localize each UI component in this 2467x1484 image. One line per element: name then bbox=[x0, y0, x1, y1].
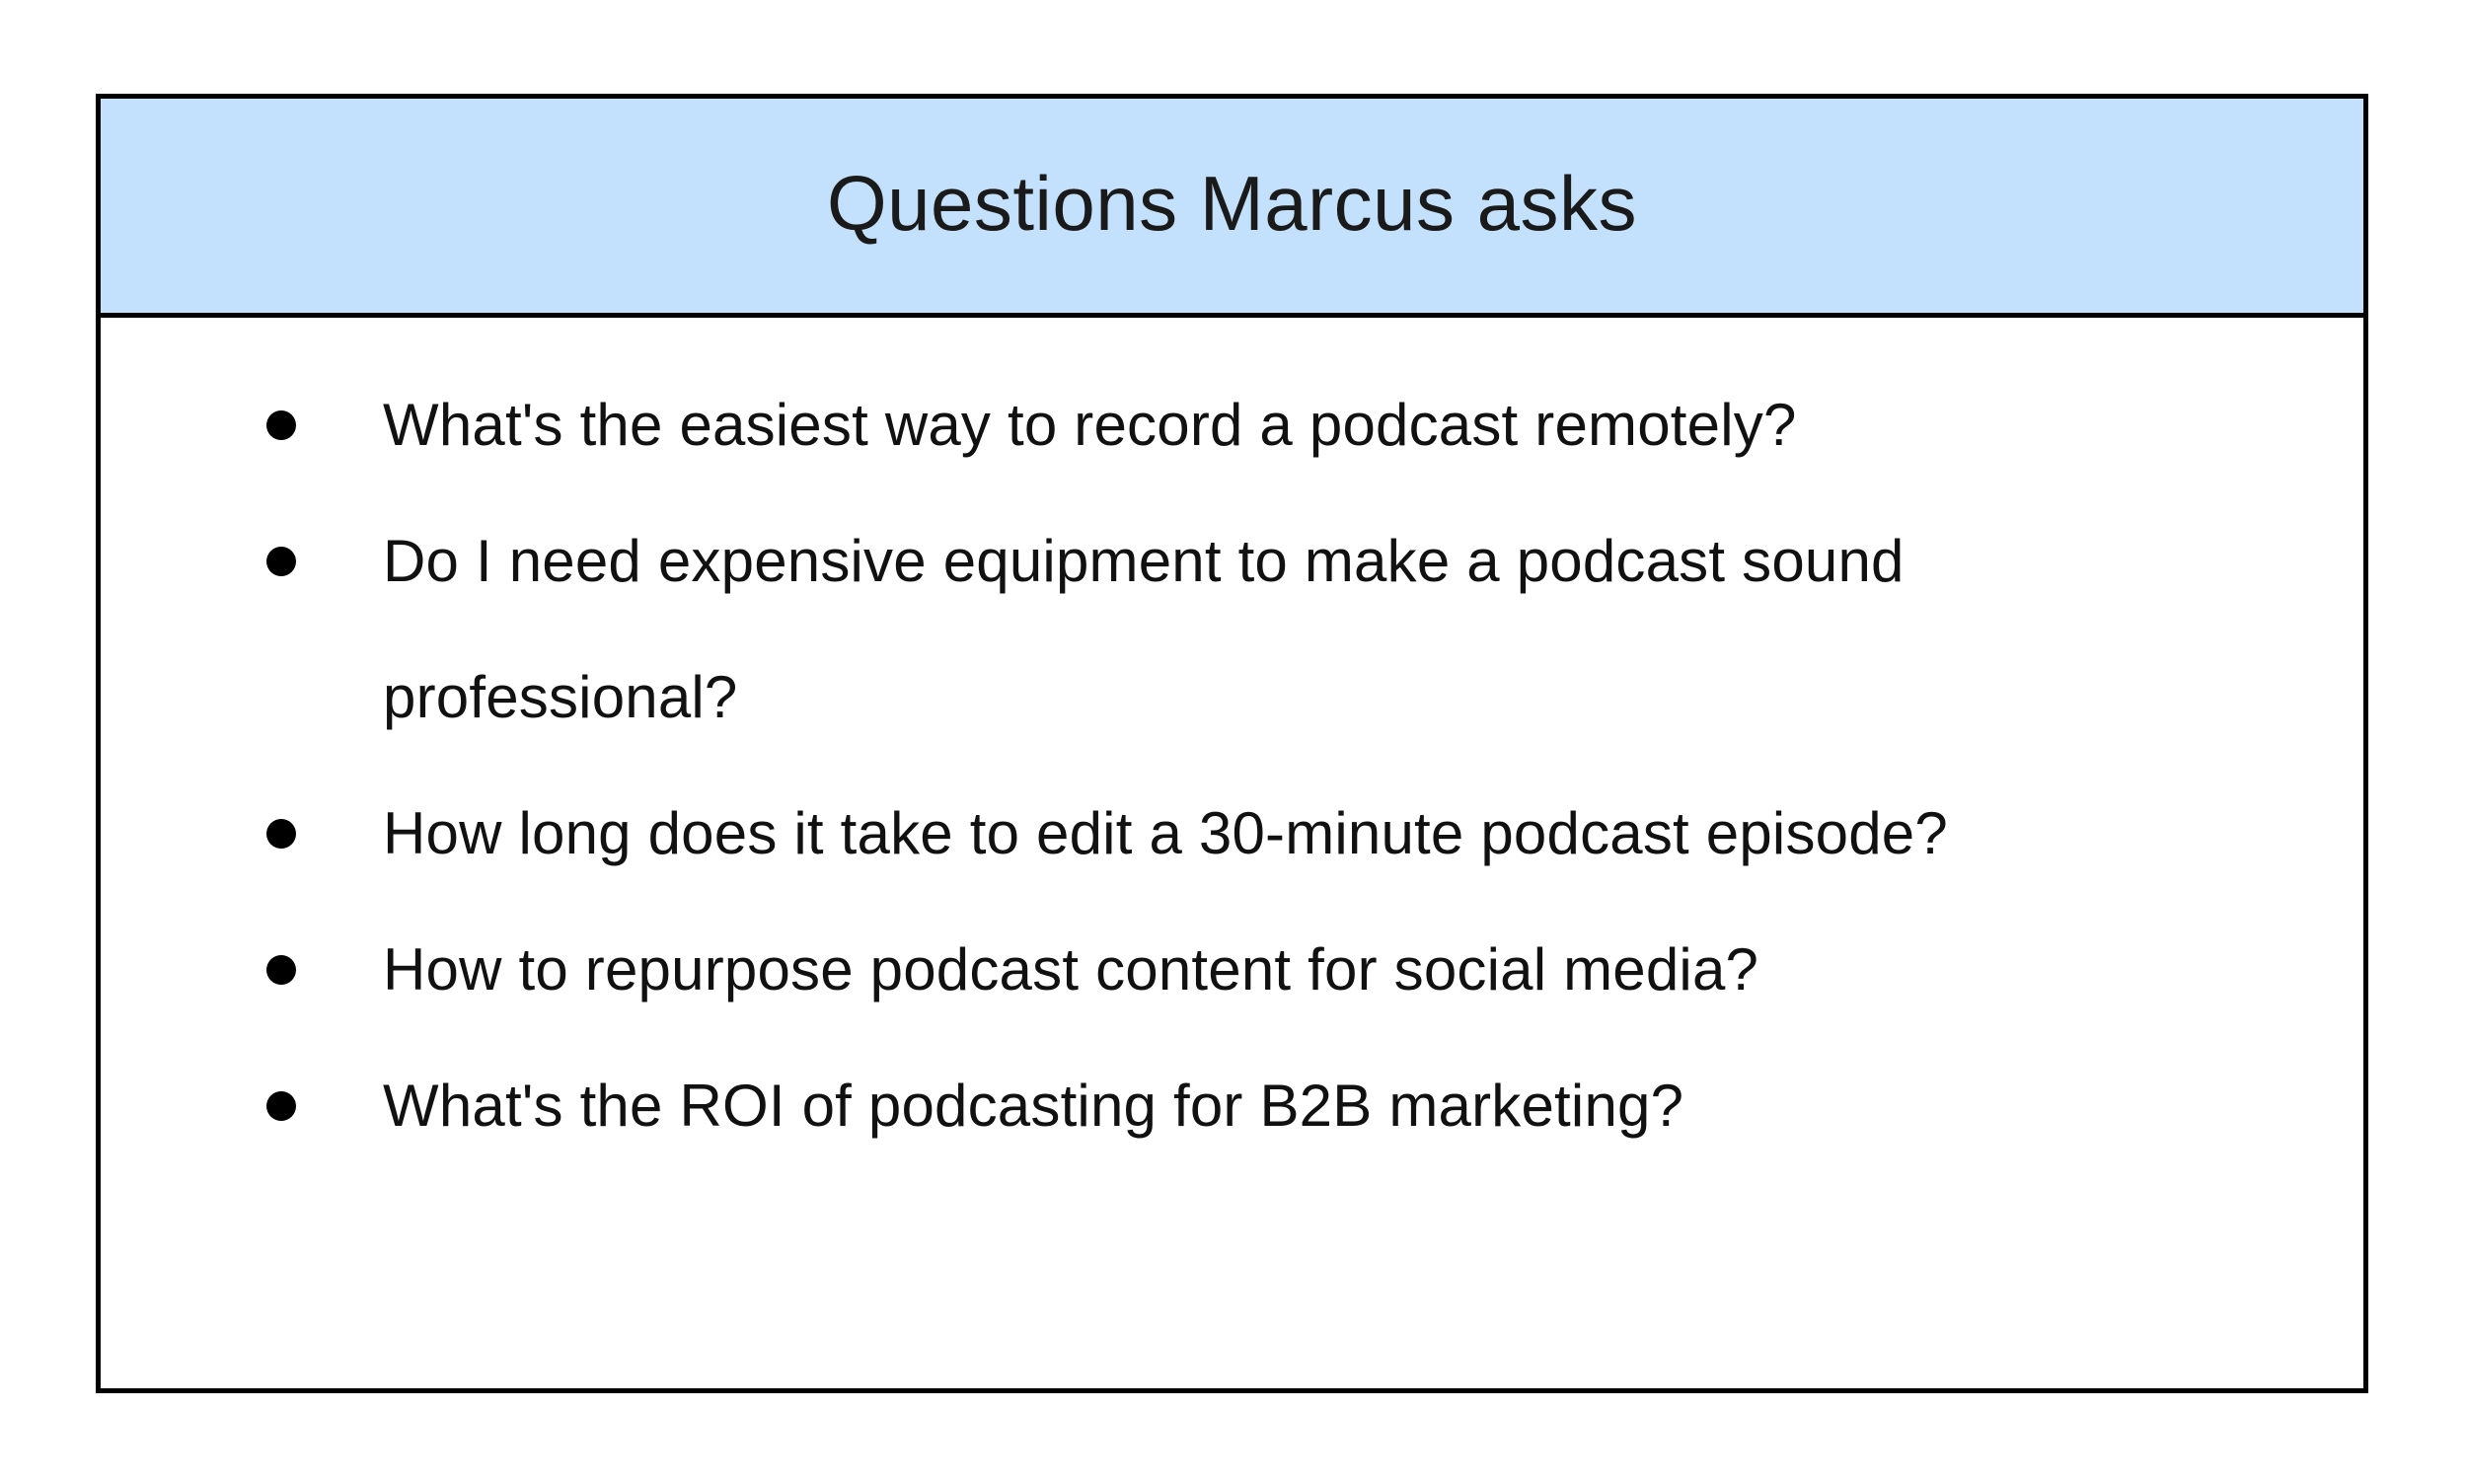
card-body: What's the easiest way to record a podca… bbox=[101, 318, 2363, 1388]
list-item-label: How to repurpose podcast content for soc… bbox=[383, 902, 2245, 1038]
list-item: How to repurpose podcast content for soc… bbox=[101, 902, 2363, 1038]
list-item: Do I need expensive equipment to make a … bbox=[101, 493, 2363, 766]
page-root: Questions Marcus asks What's the easiest… bbox=[0, 0, 2467, 1484]
list-item-label: What's the easiest way to record a podca… bbox=[383, 357, 2245, 493]
list-item: How long does it take to edit a 30-minut… bbox=[101, 766, 2363, 902]
questions-list: What's the easiest way to record a podca… bbox=[101, 357, 2363, 1174]
card-header: Questions Marcus asks bbox=[101, 99, 2363, 318]
bullet-dot-icon bbox=[266, 955, 296, 985]
questions-card: Questions Marcus asks What's the easiest… bbox=[96, 94, 2368, 1393]
list-item: What's the ROI of podcasting for B2B mar… bbox=[101, 1038, 2363, 1174]
list-item-label: Do I need expensive equipment to make a … bbox=[383, 493, 2245, 766]
bullet-dot-icon bbox=[266, 1091, 296, 1121]
bullet-dot-icon bbox=[266, 819, 296, 849]
list-item-label: How long does it take to edit a 30-minut… bbox=[383, 766, 2245, 902]
page-title: Questions Marcus asks bbox=[827, 165, 1637, 248]
bullet-dot-icon bbox=[266, 410, 296, 440]
bullet-dot-icon bbox=[266, 547, 296, 576]
list-item: What's the easiest way to record a podca… bbox=[101, 357, 2363, 493]
list-item-label: What's the ROI of podcasting for B2B mar… bbox=[383, 1038, 2245, 1174]
